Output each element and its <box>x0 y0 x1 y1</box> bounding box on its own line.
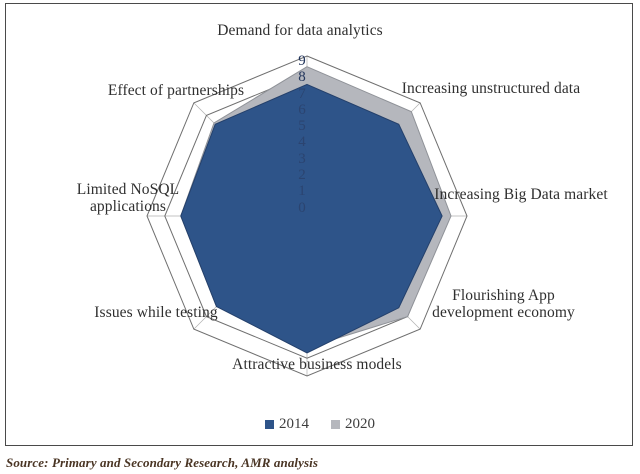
legend-swatch-icon <box>265 420 274 429</box>
axis-label-limited-nosql-applications: Limited NoSQL applications <box>38 181 218 216</box>
legend-item-2020[interactable]: 2020 <box>331 416 375 433</box>
legend-item-2014[interactable]: 2014 <box>265 416 309 433</box>
radial-tick: 3 <box>291 152 313 168</box>
radial-tick: 5 <box>291 119 313 135</box>
radial-axis-ticks: 9 8 7 6 5 4 3 2 1 0 <box>291 54 313 217</box>
axis-label-issues-while-testing: Issues while testing <box>61 304 251 321</box>
legend-label: 2014 <box>279 416 309 433</box>
axis-label-demand-for-data-analytics: Demand for data analytics <box>188 22 412 39</box>
chart-frame: 9 8 7 6 5 4 3 2 1 0 Demand for data anal… <box>5 3 633 446</box>
axis-label-attractive-business-models: Attractive business models <box>222 356 412 373</box>
radial-tick: 4 <box>291 135 313 151</box>
radial-tick: 2 <box>291 168 313 184</box>
radial-tick: 8 <box>291 70 313 86</box>
chart-legend: 2014 2020 <box>6 416 634 433</box>
source-note: Source: Primary and Secondary Research, … <box>6 455 318 471</box>
axis-label-effect-of-partnerships: Effect of partnerships <box>101 82 251 99</box>
radial-tick: 0 <box>291 201 313 217</box>
legend-swatch-icon <box>331 420 340 429</box>
legend-label: 2020 <box>345 416 375 433</box>
axis-label-increasing-big-data-market: Increasing Big Data market <box>426 186 616 203</box>
radar-chart-figure: 9 8 7 6 5 4 3 2 1 0 Demand for data anal… <box>0 0 640 474</box>
radial-tick: 6 <box>291 103 313 119</box>
axis-label-flourishing-app-development-economy: Flourishing App development economy <box>416 287 591 322</box>
radial-tick: 9 <box>291 54 313 70</box>
axis-label-increasing-unstructured-data: Increasing unstructured data <box>396 80 586 97</box>
radial-tick: 1 <box>291 184 313 200</box>
radial-tick: 7 <box>291 87 313 103</box>
